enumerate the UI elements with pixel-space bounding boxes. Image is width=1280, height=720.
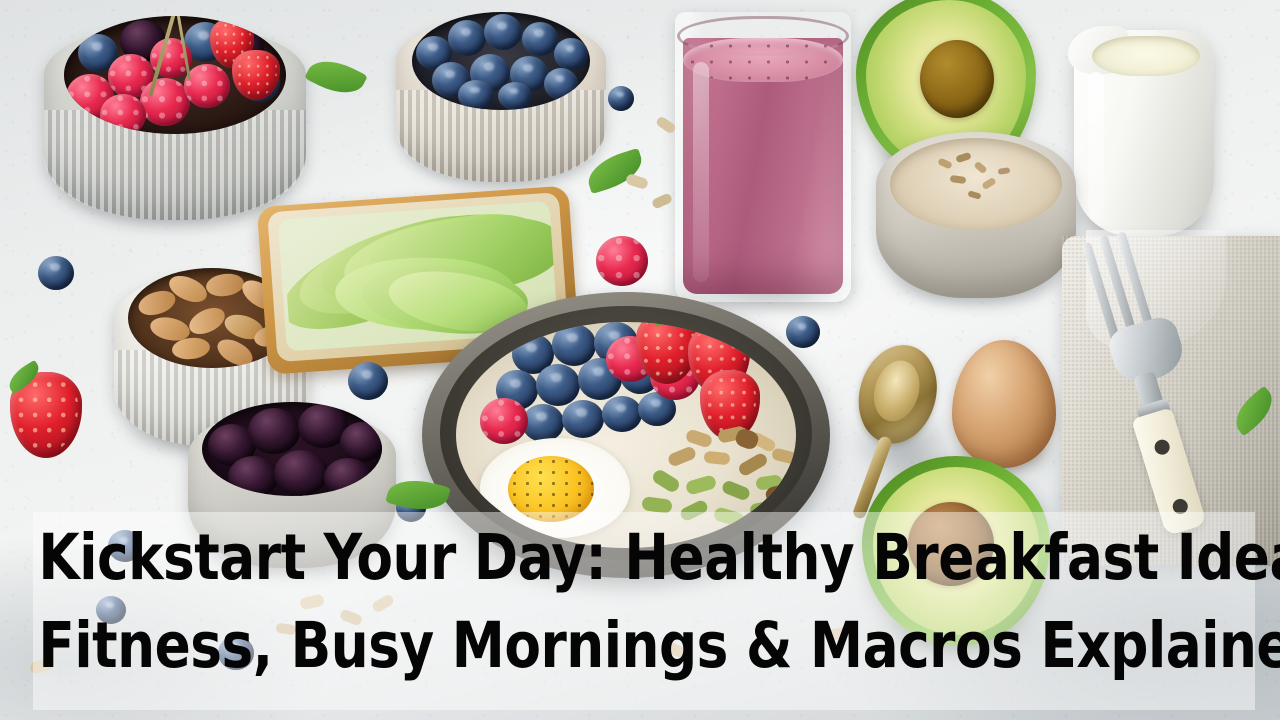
loose-blueberry-3	[786, 316, 820, 348]
berry-smoothie-glass	[663, 2, 863, 312]
video-thumbnail: Kickstart Your Day: Healthy Breakfast Id…	[0, 0, 1280, 720]
loose-blueberry-2	[348, 362, 388, 400]
loose-raspberry	[596, 236, 648, 286]
title-line-2: Fitness, Busy Mornings & Macros Explaine…	[38, 602, 1241, 690]
milk-jug	[1062, 12, 1226, 244]
blueberry-ramekin	[396, 4, 606, 186]
title-line-1: Kickstart Your Day: Healthy Breakfast Id…	[38, 514, 1241, 602]
page-title: Kickstart Your Day: Healthy Breakfast Id…	[38, 514, 1241, 690]
loose-blueberry-1	[38, 256, 74, 290]
loose-blueberry	[608, 86, 634, 111]
brown-egg	[952, 340, 1056, 468]
